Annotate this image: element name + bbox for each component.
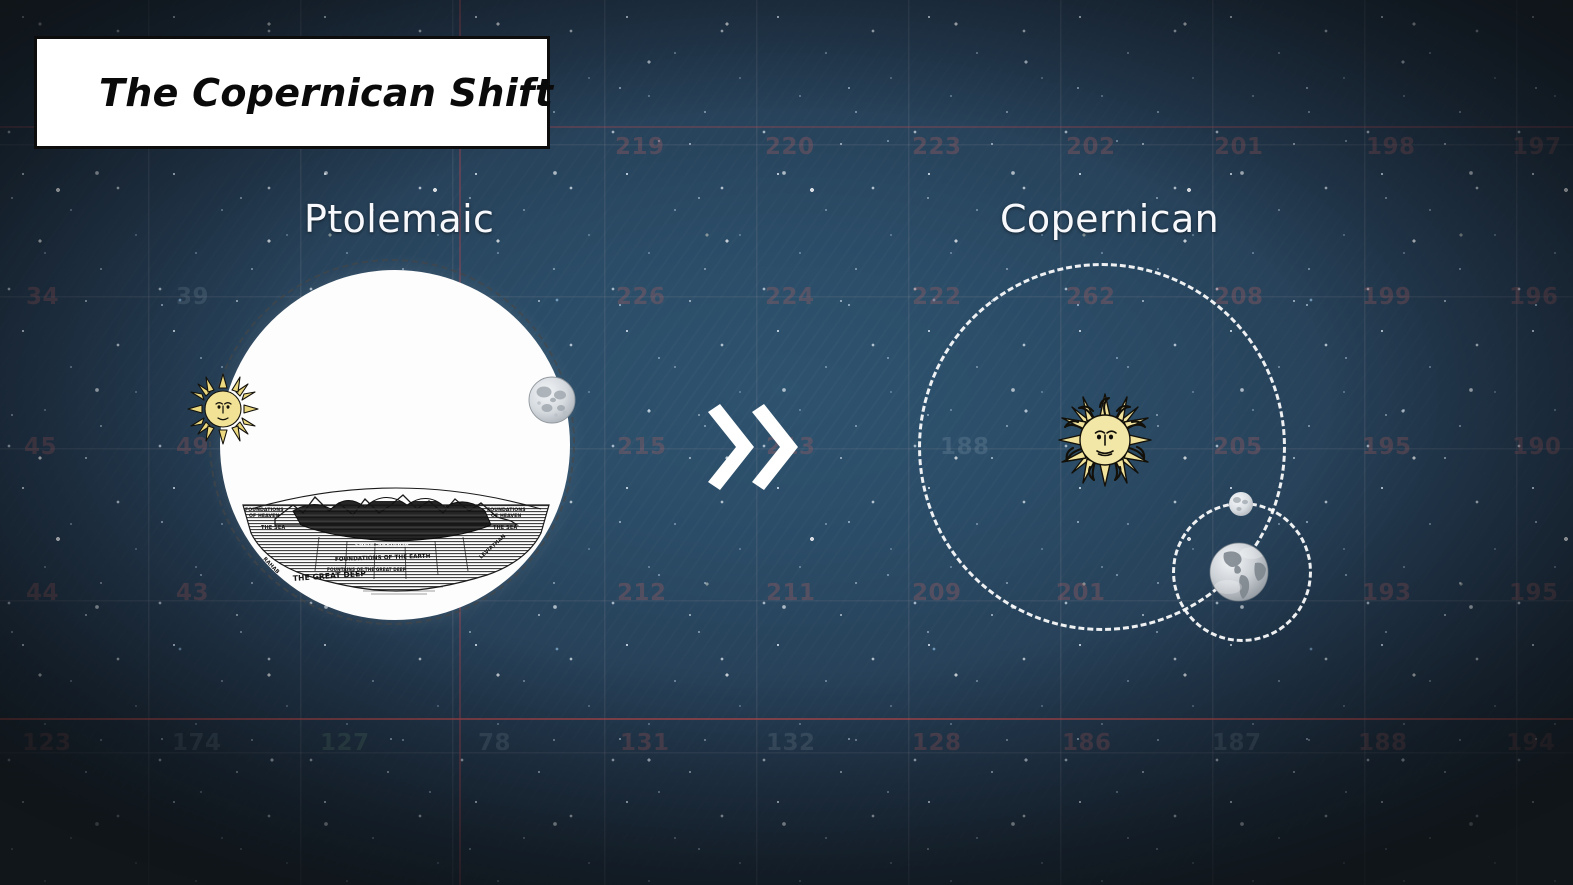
slide-canvas: 2192202232022011981973439226224222262208… [0,0,1573,885]
woodcut-label-the-sea-right: THE SEA [493,525,517,531]
copernican-sun-icon [1057,392,1153,488]
title-plate: The Copernican Shift [34,36,550,149]
woodcut-label-the-sea-left: THE SEA [261,525,285,531]
woodcut-label-foundations-heaven-right: FOUNDATIONS [487,507,526,513]
ptolemaic-moon-icon [527,375,577,425]
ptolemaic-model-diagram: FOUNDATIONS OF HEAVEN FOUNDATIONS OF HEA… [185,253,595,638]
copernican-model-diagram [905,250,1315,650]
panel-caption-copernican: Copernican [1000,197,1219,241]
panel-caption-ptolemaic: Ptolemaic [304,197,494,241]
copernican-earth-icon [1208,541,1270,603]
double-chevron-right-icon [706,404,806,490]
svg-text:OF HEAVEN: OF HEAVEN [249,513,279,519]
woodcut-label-foundations-heaven-left: FOUNDATIONS [245,507,284,513]
svg-text:OF HEAVEN: OF HEAVEN [491,513,521,519]
flat-earth-woodcut: FOUNDATIONS OF HEAVEN FOUNDATIONS OF HEA… [235,475,557,595]
woodcut-label-sheol-abaddon: SHEOL ABADDON [355,543,409,549]
page-title: The Copernican Shift [37,71,553,115]
copernican-moon-icon [1228,491,1254,517]
ptolemaic-sun-icon [187,373,259,445]
